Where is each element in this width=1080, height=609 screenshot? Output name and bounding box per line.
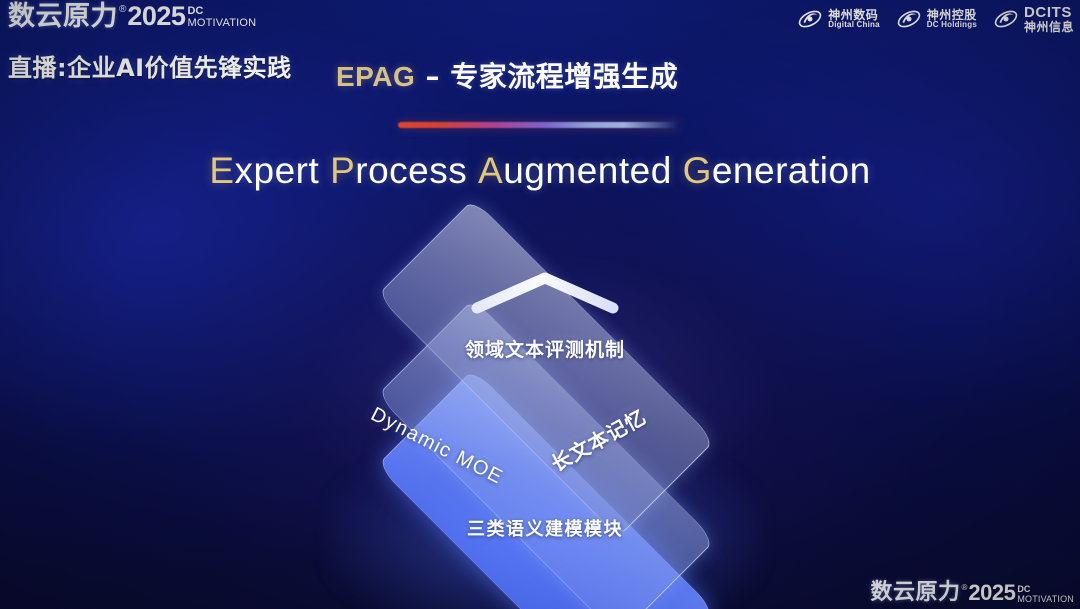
gradient-divider [398,122,680,128]
corporate-logo-digital-china: 神州数码 Digital China [797,6,880,32]
presentation-slide: 数云原力 ® 2025 DC MOTIVATION 直播:企业AI价值先锋实践 … [0,0,1080,609]
brand-sub-lockup: DC MOTIVATION [187,6,256,29]
subtitle-cap-p: P [330,150,355,191]
live-stream-label: 直播:企业AI价值先锋实践 [8,48,292,83]
subtitle-rest-expert: xpert [235,150,320,191]
subtitle-cap-a: A [478,150,503,191]
brand-year: 2025 [968,582,1015,604]
layer-label-bottom: 三类语义建模模块 [457,515,633,541]
subtitle-space-1 [319,150,330,191]
subtitle-space-3 [672,150,683,191]
subtitle-rest-process: rocess [355,150,467,191]
corporate-logo-dc-holdings: 神州控股 DC Holdings [896,6,977,32]
brand-sub-top: DC [1017,585,1074,594]
corporate-name-en: Digital China [828,21,880,29]
corporate-logo-dcits: DCITS 神州信息 [993,5,1074,33]
subtitle: Expert Process Augmented Generation [0,150,1080,192]
brand-logo-top-left: 数云原力 ® 2025 DC MOTIVATION [8,3,256,30]
brand-sub-bottom: MOTIVATION [187,18,256,29]
subtitle-cap-g: G [683,150,712,191]
page-title-plain: – 专家流程增强生成 [415,60,678,93]
brand-name-cn: 数云原力 [8,3,118,30]
swirl-logo-icon [993,6,1019,32]
layer-slab-top [377,199,716,538]
subtitle-rest-generation: eneration [712,150,871,191]
corporate-name-cn: 神州信息 [1024,21,1074,34]
corporate-logo-group: 神州数码 Digital China 神州控股 DC Holdings [797,5,1074,33]
page-title-accent: EPAG [336,61,415,92]
subtitle-space-2 [467,150,478,191]
corporate-logo-text: DCITS 神州信息 [1024,5,1074,33]
layer-label-top: 领域文本评测机制 [455,335,635,362]
brand-sub-bottom: MOTIVATION [1017,595,1074,604]
corporate-logo-text: 神州数码 Digital China [828,9,880,30]
brand-sub-top: DC [187,6,256,17]
corporate-name-en: DC Holdings [927,21,977,29]
corporate-logo-text: 神州控股 DC Holdings [927,9,977,30]
swirl-logo-icon [797,6,823,32]
subtitle-cap-e: E [209,150,234,191]
brand-name-cn: 数云原力 [870,582,960,604]
corporate-name-en: DCITS [1024,5,1074,21]
brand-year: 2025 [127,3,185,30]
registered-mark-icon: ® [119,5,126,15]
brand-sub-lockup: DC MOTIVATION [1017,585,1074,604]
brand-logo-bottom-right: 数云原力 ® 2025 DC MOTIVATION [870,582,1074,604]
stacked-layers-diagram: 领域文本评测机制 Dynamic MOE 长文本记忆 三类语义建模模块 [290,232,800,577]
chevron-up-icon [467,268,623,318]
page-title: EPAG – 专家流程增强生成 [336,55,678,95]
registered-mark-icon: ® [961,584,967,592]
swirl-logo-icon [896,6,922,32]
subtitle-rest-augmented: ugmented [503,150,672,191]
